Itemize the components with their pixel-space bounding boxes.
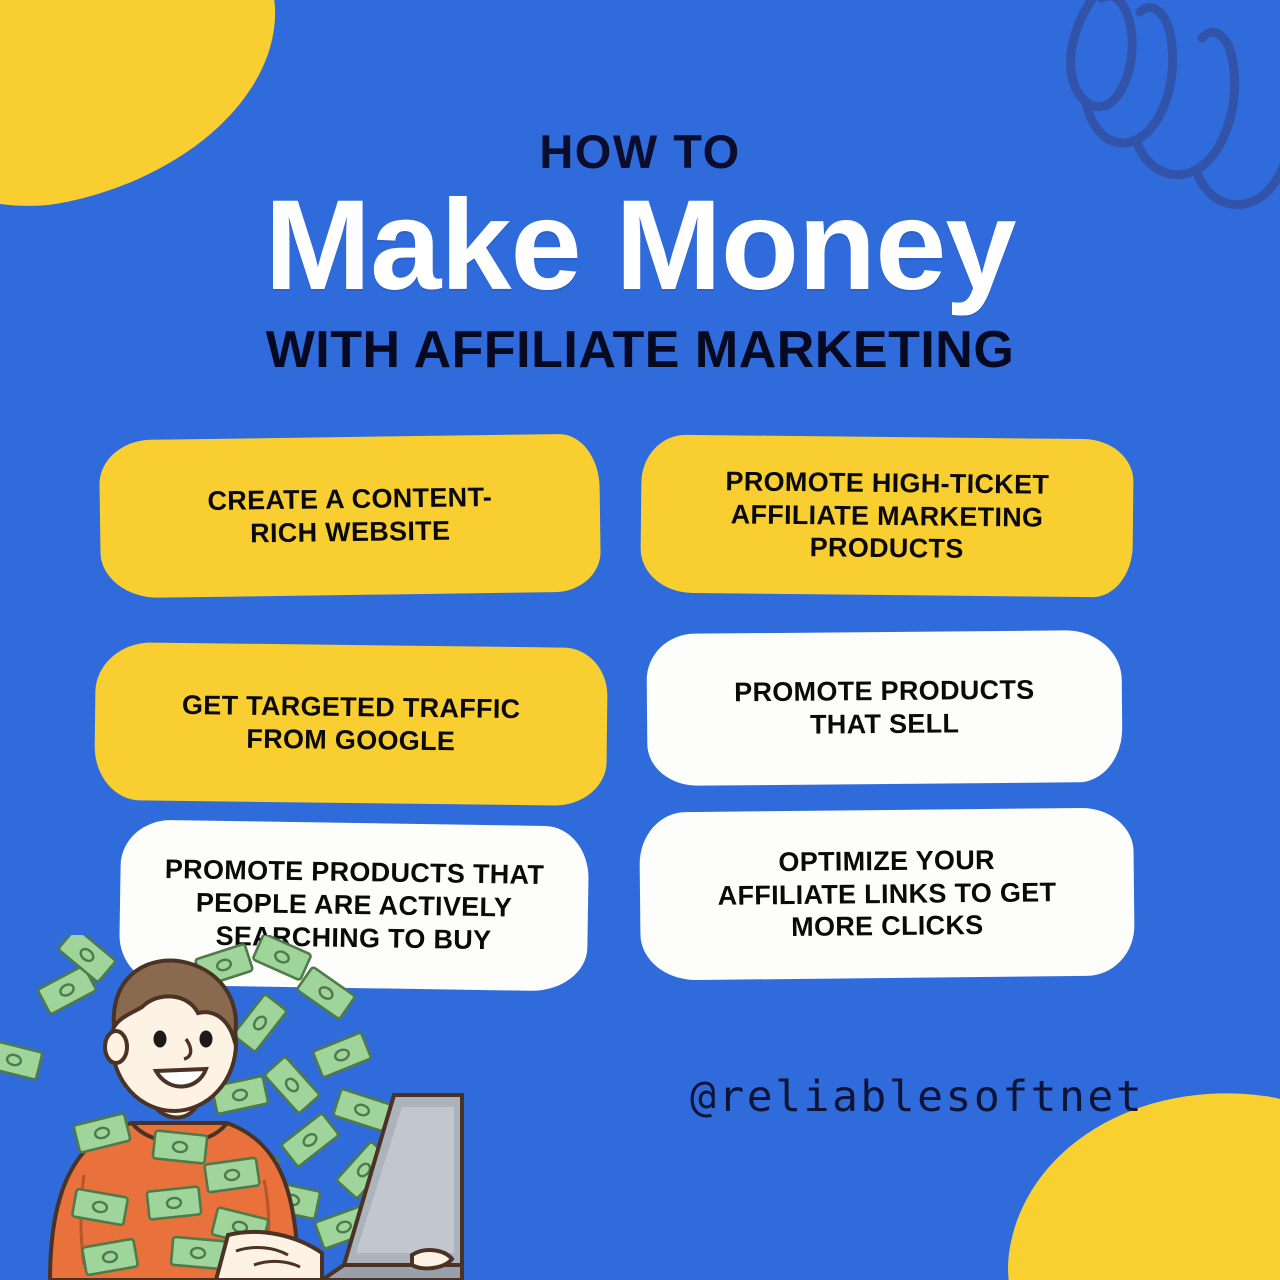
tip-line: RICH WEBSITE (208, 514, 493, 551)
eye-right (200, 1031, 213, 1048)
person-with-laptop-illustration (0, 935, 512, 1280)
eye-left (154, 1031, 167, 1048)
tip-line: OPTIMIZE YOUR (717, 843, 1056, 879)
tip-line: PRODUCTS (725, 531, 1049, 567)
ear (105, 1031, 127, 1063)
tip-card-text: CREATE A CONTENT- RICH WEBSITE (207, 481, 492, 551)
tip-card-text: GET TARGETED TRAFFIC FROM GOOGLE (181, 689, 520, 759)
tip-card-text: PROMOTE HIGH-TICKET AFFILIATE MARKETING … (725, 465, 1050, 567)
tip-line: PROMOTE PRODUCTS (734, 674, 1035, 710)
tip-line: MORE CLICKS (718, 909, 1057, 945)
tip-card-create-content-rich-website[interactable]: CREATE A CONTENT- RICH WEBSITE (99, 434, 601, 599)
poster-canvas: HOW TO Make Money WITH AFFILIATE MARKETI… (0, 0, 1280, 1280)
tip-card-promote-high-ticket-products[interactable]: PROMOTE HIGH-TICKET AFFILIATE MARKETING … (640, 434, 1134, 597)
page-title: Make Money (0, 181, 1280, 312)
tip-line: GET TARGETED TRAFFIC (182, 689, 521, 726)
tip-card-text: PROMOTE PRODUCTS THAT SELL (734, 674, 1035, 742)
headline-block: HOW TO Make Money WITH AFFILIATE MARKETI… (0, 128, 1280, 376)
tip-line: PROMOTE HIGH-TICKET (725, 465, 1049, 501)
thumb (412, 1250, 452, 1268)
tip-line: FROM GOOGLE (181, 722, 520, 759)
social-handle: @reliablesoftnet (690, 1072, 1144, 1122)
tip-card-optimize-affiliate-links[interactable]: OPTIMIZE YOUR AFFILIATE LINKS TO GET MOR… (639, 807, 1135, 980)
tip-card-get-targeted-traffic-from-google[interactable]: GET TARGETED TRAFFIC FROM GOOGLE (94, 642, 608, 806)
tip-line: THAT SELL (734, 707, 1035, 743)
hand-left (216, 1232, 322, 1280)
headline-subtitle: WITH AFFILIATE MARKETING (0, 324, 1280, 376)
tip-card-text: OPTIMIZE YOUR AFFILIATE LINKS TO GET MOR… (717, 843, 1057, 945)
tip-line: AFFILIATE LINKS TO GET (718, 876, 1057, 912)
tip-line: CREATE A CONTENT- (207, 481, 492, 518)
headline-kicker: HOW TO (0, 128, 1280, 175)
tip-card-promote-products-that-sell[interactable]: PROMOTE PRODUCTS THAT SELL (646, 630, 1122, 786)
tip-line: AFFILIATE MARKETING (725, 498, 1049, 534)
